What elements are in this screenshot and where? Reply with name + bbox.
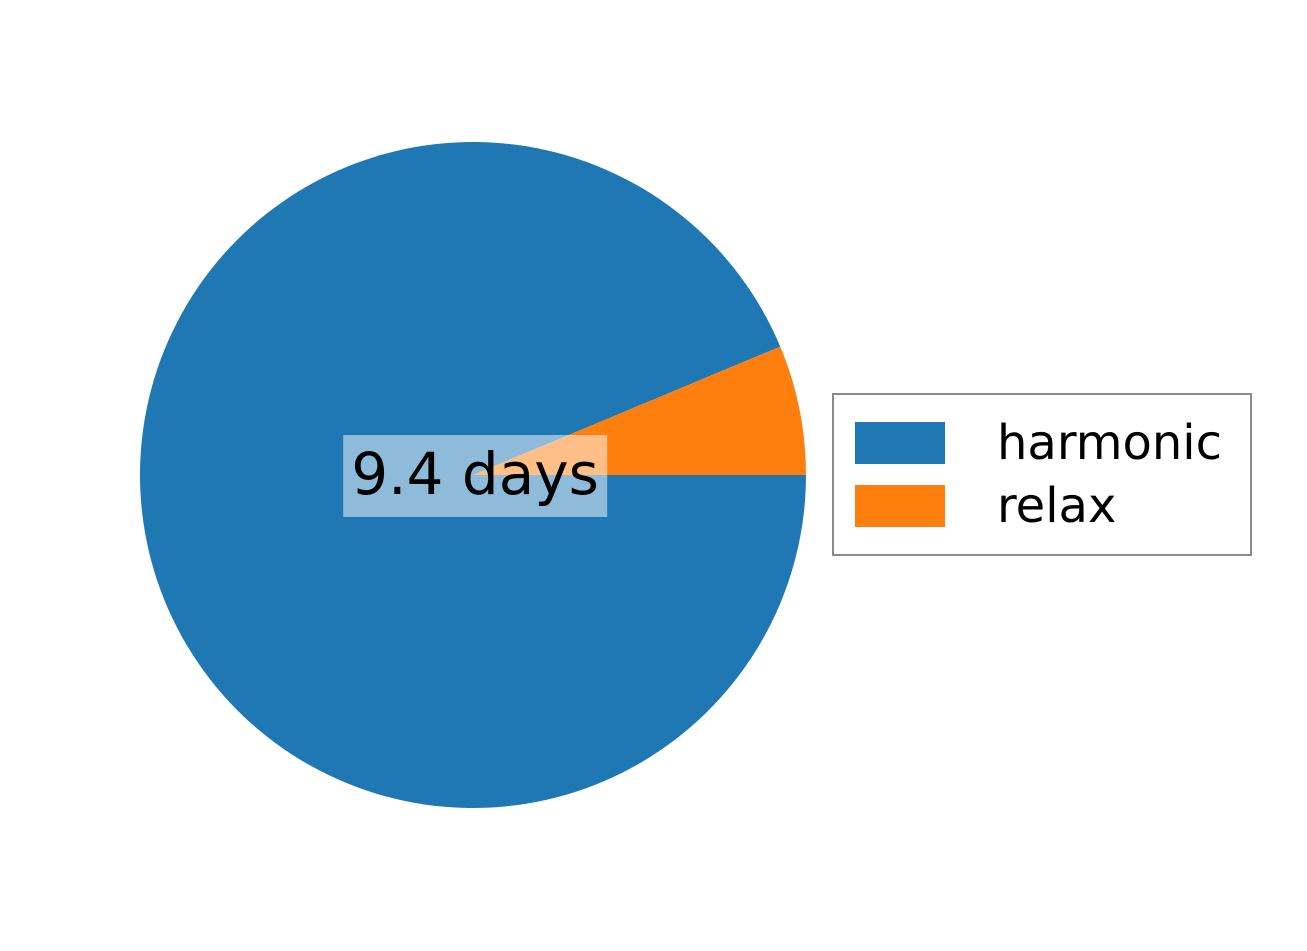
wedge-label-harmonic: 9.4 days bbox=[343, 435, 607, 517]
legend-label-harmonic: harmonic bbox=[997, 419, 1222, 467]
chart-legend: harmonic relax bbox=[832, 393, 1252, 556]
legend-color-swatch-relax bbox=[855, 485, 945, 527]
legend-color-swatch-harmonic bbox=[855, 422, 945, 464]
figure-canvas: 9.4 days harmonic relax bbox=[0, 0, 1307, 951]
legend-label-relax: relax bbox=[997, 482, 1116, 530]
legend-entry-harmonic[interactable]: harmonic bbox=[834, 411, 1250, 475]
legend-entry-relax[interactable]: relax bbox=[834, 475, 1250, 539]
